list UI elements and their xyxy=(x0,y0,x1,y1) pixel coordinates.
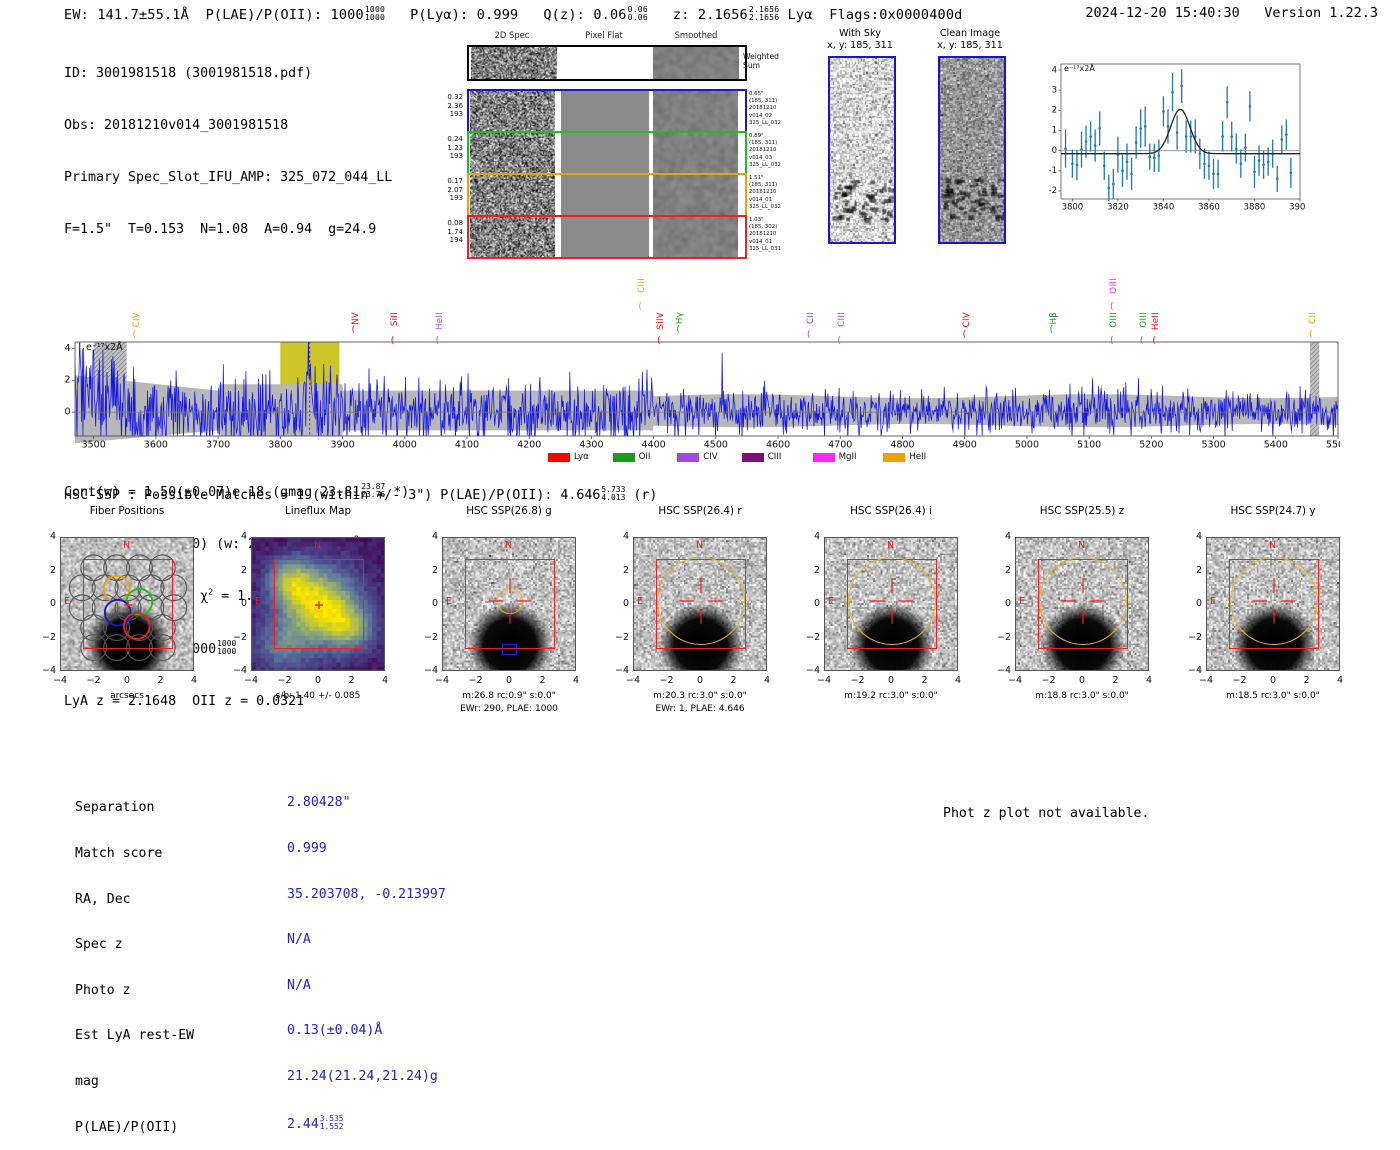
cutout-x-tick: −2 xyxy=(467,675,485,686)
spectrum-line-label: CII xyxy=(1308,312,1318,324)
cutout-x-tick: 2 xyxy=(916,675,934,686)
match-key-separation: Separation xyxy=(75,800,194,815)
cutout-panel-footer-1: m:18.8 rc:3.0" s:0.0" xyxy=(987,691,1177,703)
cutout-x-tick: 0 xyxy=(691,675,709,686)
cutout-y-tick: 0 xyxy=(418,598,438,609)
match-value-spec-z: N/A xyxy=(287,932,446,947)
header-ew-label: EW: xyxy=(64,7,89,23)
cutout-panel-axes[interactable] xyxy=(251,537,385,671)
cutout-panel-axes[interactable] xyxy=(824,537,958,671)
cutout-y-tick: −2 xyxy=(418,632,438,643)
cutout-y-tick: −4 xyxy=(800,665,820,676)
full-spectrum-block: CIV(NV(SiII(HeII(CIII(SiIV(Hγ(CII(CIII(C… xyxy=(60,270,1340,470)
cutout-image-clean xyxy=(938,56,1006,244)
cutout-x-tick: 0 xyxy=(500,675,518,686)
spectrum-line-label: CIV xyxy=(132,312,142,327)
spec2d-stamp xyxy=(561,91,649,131)
cutout-y-tick: 2 xyxy=(609,565,629,576)
match-value-match-score: 0.999 xyxy=(287,841,446,856)
match-table-values: 2.80428" 0.999 35.203708, -0.213997 N/A … xyxy=(287,765,446,1147)
cutout-y-tick: 4 xyxy=(36,531,56,542)
header-qz-label: Q(z): xyxy=(543,7,585,23)
spec2d-stamp xyxy=(470,217,555,257)
cutout-x-tick: 4 xyxy=(376,675,394,686)
info-line-primary-spec: Primary Spec_Slot_IFU_AMP: 325_072_044_L… xyxy=(64,169,409,186)
spectrum-line-label: OIII xyxy=(1139,312,1149,328)
match-key-plae: P(LAE)/P(OII) xyxy=(75,1120,194,1135)
spectrum-line-label: HeII xyxy=(1151,312,1161,330)
cutout-panel-footer-2: EWr: 1, PLAE: 4.646 xyxy=(605,704,795,716)
spec2d-row-left-label: 0.08 1.74 194 xyxy=(425,219,463,245)
cutout-x-tick: 0 xyxy=(882,675,900,686)
cutout-y-tick: −4 xyxy=(227,665,247,676)
cutout-panel-row: Fiber PositionsNE−4−2024420−2−4arcsecsLi… xyxy=(0,505,1400,745)
compass-north-label: N xyxy=(123,540,130,551)
compass-east-label: E xyxy=(1019,596,1025,607)
compass-north-label: N xyxy=(696,540,703,551)
cutout-image-with-sky xyxy=(828,56,896,244)
cutout-y-tick: −2 xyxy=(1182,632,1202,643)
match-value-plae: 2.443.5351.552 xyxy=(287,1115,446,1132)
spectrum-line-bracket: ( xyxy=(963,330,967,340)
match-table-keys: Separation Match score RA, Dec Spec z Ph… xyxy=(75,770,194,1150)
match-key-photo-z: Photo z xyxy=(75,983,194,998)
spec2d-stamp xyxy=(470,91,555,131)
spectrum-line-label: Hγ xyxy=(675,312,685,324)
compass-east-label: E xyxy=(828,596,834,607)
cutout-x-tick: −4 xyxy=(51,675,69,686)
cutout-y-tick: −4 xyxy=(1182,665,1202,676)
header-z-label: z: xyxy=(673,7,690,23)
match-key-mag: mag xyxy=(75,1074,194,1089)
cutout-panel-axes[interactable] xyxy=(1015,537,1149,671)
legend-label: CIII xyxy=(768,452,782,462)
legend-swatch xyxy=(813,453,835,462)
cutout-blue-box xyxy=(502,644,517,655)
cutout-x-tick: 4 xyxy=(758,675,776,686)
top-cutouts-block: With Skyx, y: 185, 311 Clean Imagex, y: … xyxy=(810,28,1020,258)
hsc-summary-line: HSC-SSP : Possible Matches = 1 (within +… xyxy=(64,486,657,503)
cutout-y-tick: 2 xyxy=(991,565,1011,576)
spec2d-row-right-annotation: 0.89" (185, 311) 20181210 v014_03 325_LL… xyxy=(749,133,781,169)
match-value-photo-z: N/A xyxy=(287,978,446,993)
spectrum-line-label: CIII xyxy=(837,312,847,327)
full-spectrum-canvas xyxy=(60,270,1340,470)
legend-label: Lyα xyxy=(574,452,589,462)
compass-east-label: E xyxy=(446,596,452,607)
hsc-plae-range: 5.7334.013 xyxy=(601,486,625,502)
cutout-panel-footer-1: m:26.8 rc:0.9" s:0.0" xyxy=(414,691,604,703)
cutout-y-tick: 0 xyxy=(800,598,820,609)
spec2d-row-left-label: 0.24 1.23 193 xyxy=(425,135,463,161)
cutout-y-tick: 4 xyxy=(418,531,438,542)
header-plae-label: P(LAE)/P(OII): xyxy=(206,7,323,23)
legend-label: HeII xyxy=(909,452,926,462)
match-value-plae-range: 3.5351.552 xyxy=(320,1115,344,1131)
cutout-y-tick: 0 xyxy=(991,598,1011,609)
cutout-crosshair xyxy=(634,538,767,671)
cutout-y-tick: −2 xyxy=(609,632,629,643)
legend-label: MgII xyxy=(839,452,857,462)
cutout-x-tick: 2 xyxy=(534,675,552,686)
cutout-y-tick: 4 xyxy=(1182,531,1202,542)
cutout-panel-title: HSC SSP(25.5) z xyxy=(987,505,1177,517)
spectrum-line-bracket: ( xyxy=(391,336,395,346)
legend-swatch xyxy=(613,453,635,462)
cutout-y-tick: −4 xyxy=(609,665,629,676)
spec2d-stamp xyxy=(653,91,738,131)
cutout-y-tick: 0 xyxy=(227,598,247,609)
spec2d-stamp xyxy=(653,47,739,79)
cutout-crosshair xyxy=(1207,538,1340,671)
spec2d-stamp xyxy=(470,133,555,173)
match-value-separation: 2.80428" xyxy=(287,795,446,810)
cutout-red-box xyxy=(274,559,364,649)
cutout-x-tick: −2 xyxy=(1231,675,1249,686)
two-d-spectra-block: 2D Spec Pixel Flat Smoothed Weighted Sum… xyxy=(425,30,765,260)
header-timestamp: 2024-12-20 15:40:30 xyxy=(1085,5,1239,21)
cutout-x-tick: −2 xyxy=(85,675,103,686)
cutout-panel-axes[interactable] xyxy=(1206,537,1340,671)
cutout-x-tick: 2 xyxy=(725,675,743,686)
cutout-y-tick: 2 xyxy=(227,565,247,576)
cutout-y-tick: 0 xyxy=(1182,598,1202,609)
info-line-id: ID: 3001981518 (3001981518.pdf) xyxy=(64,65,409,82)
cutout-panel-footer-2: EWr: 290, PLAE: 1000 xyxy=(414,704,604,716)
cutout-x-tick: −4 xyxy=(1197,675,1215,686)
compass-north-label: N xyxy=(887,540,894,551)
cutout-x-tick: −2 xyxy=(1040,675,1058,686)
cutout-y-tick: −2 xyxy=(800,632,820,643)
spec2d-row-left-label: 0.32 2.36 193 xyxy=(425,93,463,119)
header-z-range: 2.16562.1656 xyxy=(749,5,779,22)
spectrum-line-label: Hβ xyxy=(1049,312,1059,325)
cutout-x-tick: 4 xyxy=(567,675,585,686)
cutout-x-tick: 2 xyxy=(1107,675,1125,686)
spec2d-title-pixelflat: Pixel Flat xyxy=(561,30,647,40)
compass-north-label: N xyxy=(505,540,512,551)
cutout-x-tick: 4 xyxy=(1140,675,1158,686)
cutout-panel-title: HSC SSP(24.7) y xyxy=(1178,505,1368,517)
compass-east-label: E xyxy=(255,596,261,607)
cutout-x-tick: −4 xyxy=(1006,675,1024,686)
cutout-x-tick: 4 xyxy=(949,675,967,686)
photoz-unavailable-message: Phot z plot not available. xyxy=(943,806,1149,821)
spectrum-line-bracket: ( xyxy=(676,325,680,335)
emission-line-fit-plot xyxy=(1035,57,1305,217)
spec2d-title-2dspec: 2D Spec xyxy=(469,30,555,40)
cutout-panel-axes[interactable] xyxy=(60,537,194,671)
header-summary-line: EW: 141.7±55.1Å P(LAE)/P(OII): 100010001… xyxy=(64,5,963,23)
cutout-x-tick: −2 xyxy=(658,675,676,686)
spectrum-line-bracket: ( xyxy=(657,336,661,346)
header-flags: Flags:0x0000400d xyxy=(829,7,962,23)
spec2d-stamp xyxy=(561,217,649,257)
header-plya-label: P(Lyα): xyxy=(410,7,468,23)
cutout-panel-footer-1: s/b: 1.40 +/- 0.085 xyxy=(223,691,413,703)
cutout-y-tick: 4 xyxy=(991,531,1011,542)
cutout-x-tick: 4 xyxy=(185,675,203,686)
cutout-x-tick: 2 xyxy=(1298,675,1316,686)
spec2d-row-left-label: 0.17 2.07 193 xyxy=(425,177,463,203)
spec2d-stamp xyxy=(471,47,557,79)
spectrum-line-label: HeII xyxy=(435,312,445,330)
cutout-panel-title: HSC SSP(26.4) r xyxy=(605,505,795,517)
spectrum-line-bracket: ( xyxy=(352,325,356,335)
cutout-x-tick: 0 xyxy=(309,675,327,686)
match-key-est-lya-rest-ew: Est LyA rest-EW xyxy=(75,1028,194,1043)
header-version: Version 1.22.3 xyxy=(1264,5,1378,21)
cutout-x-tick: 0 xyxy=(1264,675,1282,686)
cutout-center-cross xyxy=(61,538,194,671)
cutout-title-with-sky: With Skyx, y: 185, 311 xyxy=(810,28,910,51)
legend-label: CIV xyxy=(703,452,717,462)
spectrum-line-bracket: ( xyxy=(807,330,811,340)
cutout-panel-footer-1: m:19.2 rc:3.0" s:0.0" xyxy=(796,691,986,703)
header-z-value: 2.1656 xyxy=(698,7,748,23)
spec2d-stamp xyxy=(653,133,738,173)
cutout-y-tick: −4 xyxy=(418,665,438,676)
fit-plot-canvas xyxy=(1035,57,1305,217)
spectrum-line-label: CIV xyxy=(962,312,972,327)
compass-east-label: E xyxy=(1210,596,1216,607)
header-plae-value: 1000 xyxy=(331,7,364,23)
cutout-x-tick: −2 xyxy=(276,675,294,686)
spec2d-stamp xyxy=(470,175,555,215)
header-timestamp-block: 2024-12-20 15:40:30 Version 1.22.3 xyxy=(1085,5,1378,21)
spec2d-title-smoothed: Smoothed xyxy=(653,30,739,40)
spectrum-line-bracket: ( xyxy=(838,336,842,346)
compass-north-label: N xyxy=(1078,540,1085,551)
cutout-x-tick: 2 xyxy=(343,675,361,686)
cutout-panel-axes[interactable] xyxy=(633,537,767,671)
cutout-panel-title: HSC SSP(26.8) g xyxy=(414,505,604,517)
spec2d-row-right-annotation: 1.03" (185, 302) 20181210 v014_01 325_LL… xyxy=(749,217,781,253)
info-line-obs: Obs: 20181210v014_3001981518 xyxy=(64,117,409,134)
match-key-spec-z: Spec z xyxy=(75,937,194,952)
legend-swatch xyxy=(548,453,570,462)
cutout-title-clean-image: Clean Imagex, y: 185, 311 xyxy=(920,28,1020,51)
legend-label: OII xyxy=(639,452,651,462)
cutout-x-tick: 0 xyxy=(118,675,136,686)
cutout-y-tick: 4 xyxy=(227,531,247,542)
cutout-y-tick: 2 xyxy=(36,565,56,576)
spectrum-line-bracket: ( xyxy=(1110,336,1114,346)
spectrum-line-label: OIII xyxy=(1109,278,1119,294)
spectrum-line-label: OIII xyxy=(1109,312,1119,328)
cutout-panel-footer-1: m:18.5 rc:3.0" s:0.0" xyxy=(1178,691,1368,703)
header-qz-range: 0.060.06 xyxy=(628,5,648,22)
spectrum-line-label: SiII xyxy=(390,312,400,326)
cutout-y-tick: 4 xyxy=(609,531,629,542)
spec2d-row-right-annotation: 0.65" (185, 311) 20181210 v014_02 325_LL… xyxy=(749,91,781,127)
spectrum-line-bracket: ( xyxy=(1140,336,1144,346)
spectrum-line-bracket: ( xyxy=(1309,330,1313,340)
cutout-crosshair xyxy=(1016,538,1149,671)
cutout-panel-footer-1: arcsecs xyxy=(32,691,222,703)
spectrum-line-label: CII xyxy=(806,312,816,324)
match-value-radec: 35.203708, -0.213997 xyxy=(287,887,446,902)
legend-swatch xyxy=(883,453,905,462)
match-key-match-score: Match score xyxy=(75,846,194,861)
hsc-summary-text: HSC-SSP : Possible Matches = 1 (within +… xyxy=(64,488,600,503)
spectrum-line-label: NV xyxy=(351,312,361,325)
hsc-summary-band: (r) xyxy=(633,488,657,503)
match-key-radec: RA, Dec xyxy=(75,892,194,907)
cutout-panel-title: Lineflux Map xyxy=(223,505,413,517)
spec2d-stamp xyxy=(561,175,649,215)
cutout-y-tick: −4 xyxy=(36,665,56,676)
cutout-y-tick: 2 xyxy=(418,565,438,576)
spec2d-row-right-annotation: 1.51" (185, 311) 20181210 v014_01 325_LL… xyxy=(749,175,781,211)
cutout-x-tick: 0 xyxy=(1073,675,1091,686)
compass-east-label: E xyxy=(64,596,70,607)
header-plae-range: 10001000 xyxy=(365,5,385,22)
spec2d-stamp xyxy=(561,133,649,173)
header-ew-value: 141.7±55.1Å xyxy=(97,7,189,23)
cutout-crosshair xyxy=(825,538,958,671)
legend-swatch xyxy=(742,453,764,462)
cutout-panel-title: HSC SSP(26.4) i xyxy=(796,505,986,517)
header-z-line: Lyα xyxy=(788,7,813,23)
spectrum-line-bracket: ( xyxy=(133,330,137,340)
spec2d-stamp xyxy=(653,175,738,215)
cutout-y-tick: −2 xyxy=(991,632,1011,643)
cutout-x-tick: −2 xyxy=(849,675,867,686)
cutout-y-tick: 4 xyxy=(800,531,820,542)
cutout-panel-axes[interactable] xyxy=(442,537,576,671)
cutout-y-tick: 2 xyxy=(1182,565,1202,576)
cutout-y-tick: −2 xyxy=(36,632,56,643)
cutout-x-tick: 4 xyxy=(1331,675,1349,686)
spectrum-line-bracket: ( xyxy=(1152,336,1156,346)
header-qz-value: 0.06 xyxy=(593,7,626,23)
cutout-y-tick: 0 xyxy=(36,598,56,609)
legend-swatch xyxy=(677,453,699,462)
cutout-y-tick: 0 xyxy=(609,598,629,609)
cutout-x-tick: −4 xyxy=(433,675,451,686)
cutout-x-tick: −4 xyxy=(624,675,642,686)
info-line-seeing: F=1.5" T=0.153 N=1.08 A=0.94 g=24.9 xyxy=(64,221,409,238)
spec2d-stamp xyxy=(653,217,738,257)
spectrum-line-bracket: ( xyxy=(1110,302,1114,312)
compass-north-label: N xyxy=(314,540,321,551)
cutout-x-tick: −4 xyxy=(815,675,833,686)
match-value-mag: 21.24(21.24,21.24)g xyxy=(287,1069,446,1084)
cutout-y-tick: −4 xyxy=(991,665,1011,676)
spec2d-stamp xyxy=(561,47,649,79)
cutout-y-tick: −2 xyxy=(227,632,247,643)
cutout-x-tick: −4 xyxy=(242,675,260,686)
header-plya-value: 0.999 xyxy=(477,7,519,23)
match-value-est-lya-rest-ew: 0.13(±0.04)Å xyxy=(287,1023,446,1038)
cutout-x-tick: 2 xyxy=(152,675,170,686)
spectrum-line-label: SiIV xyxy=(656,312,666,329)
compass-north-label: N xyxy=(1269,540,1276,551)
cutout-panel-title: Fiber Positions xyxy=(32,505,222,517)
spectrum-line-bracket: ( xyxy=(638,302,642,312)
compass-east-label: E xyxy=(637,596,643,607)
spectrum-line-label: CIII xyxy=(637,278,647,293)
spectrum-line-bracket: ( xyxy=(1050,325,1054,335)
cutout-y-tick: 2 xyxy=(800,565,820,576)
cutout-panel-footer-1: m:20.3 rc:3.0" s:0.0" xyxy=(605,691,795,703)
spectrum-line-bracket: ( xyxy=(436,336,440,346)
spec2d-weighted-sum-label: Weighted Sum xyxy=(743,52,779,71)
